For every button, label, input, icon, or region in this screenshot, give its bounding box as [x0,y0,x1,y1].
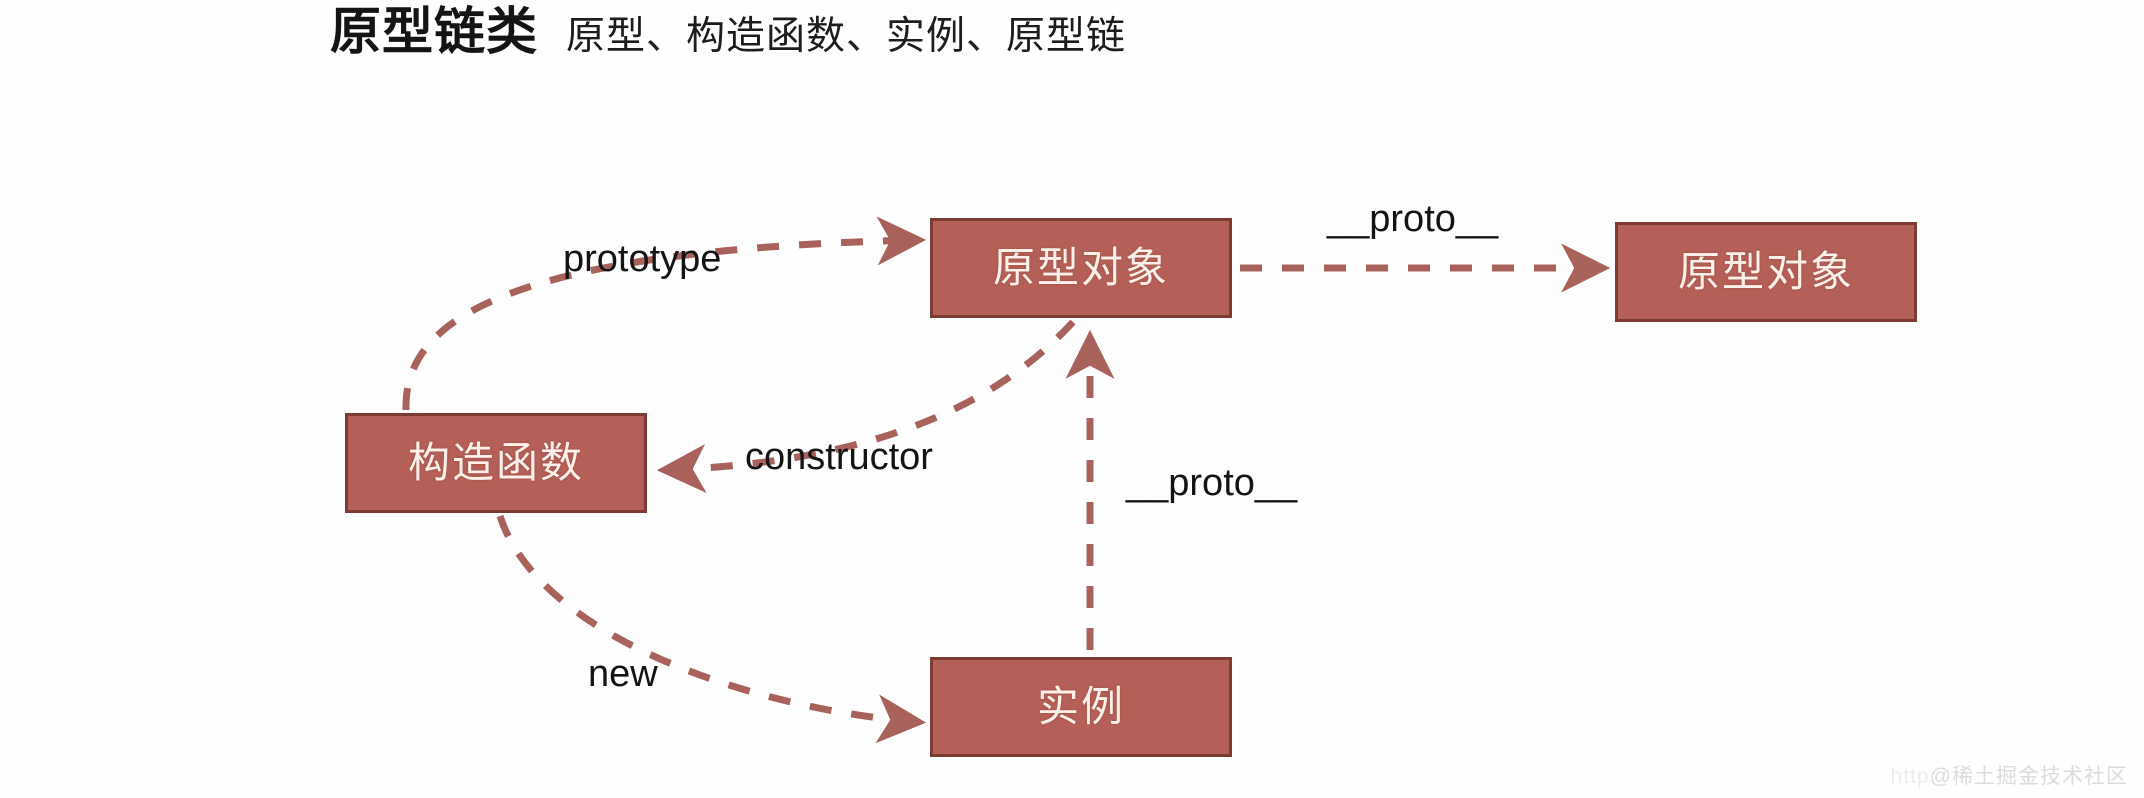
edge-label-constructor: constructor [745,438,933,476]
watermark-url: http [1891,765,1930,788]
diagram-canvas: 原型链类 原型、构造函数、实例、原型链 原型对象 原型对象 构造函数 实例 pr… [0,0,2144,798]
edge-new-line [500,516,918,722]
node-label: 原型对象 [1678,251,1854,293]
watermark: http@稀土掘金技术社区 [1891,760,2128,790]
edge-label-prototype: prototype [563,240,721,278]
node-instance[interactable]: 实例 [930,657,1232,757]
node-prototype-object-1[interactable]: 原型对象 [930,218,1232,318]
watermark-text: @稀土掘金技术社区 [1930,765,2128,788]
edge-label-new: new [588,655,658,693]
node-constructor[interactable]: 构造函数 [345,413,647,513]
edge-label-proto-top: __proto__ [1327,200,1498,238]
node-label: 原型对象 [993,247,1169,289]
node-prototype-object-2[interactable]: 原型对象 [1615,222,1917,322]
edge-label-proto-mid: __proto__ [1126,464,1297,502]
node-label: 构造函数 [408,442,584,484]
node-label: 实例 [1037,686,1125,728]
